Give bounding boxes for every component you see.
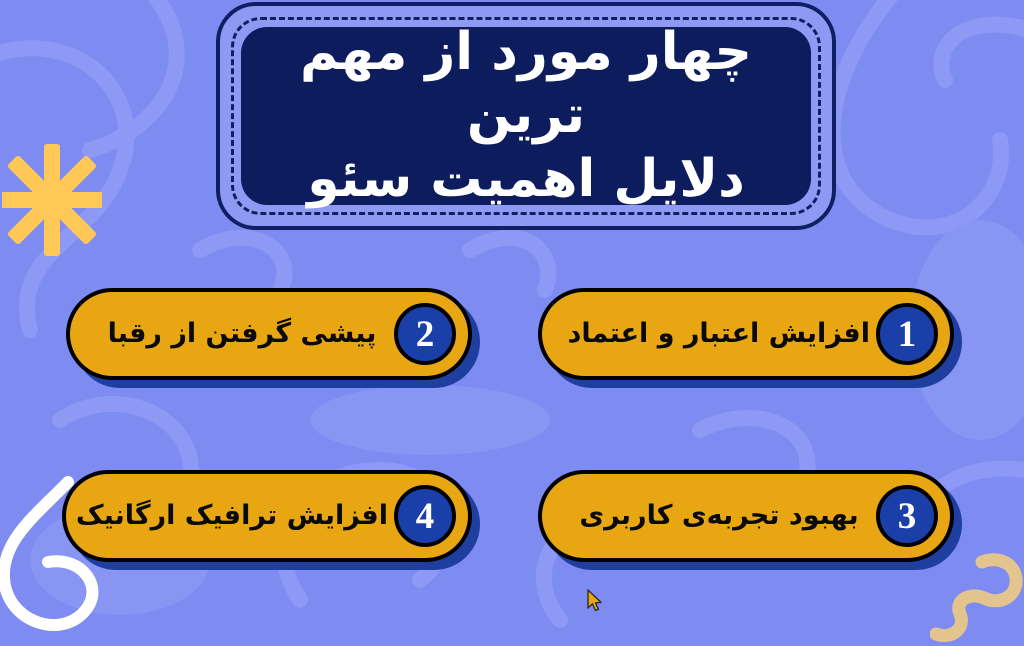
reason-pill-1[interactable]: 1 افزایش اعتبار و اعتماد bbox=[538, 288, 954, 380]
mouse-cursor-icon bbox=[586, 589, 604, 613]
reason-pill-3[interactable]: 3 بهبود تجربه‌ی کاربری bbox=[538, 470, 954, 562]
reason-number-badge-3: 3 bbox=[876, 485, 938, 547]
star-burst-icon bbox=[2, 140, 102, 260]
title-inner-panel: چهار مورد از مهم ترین دلایل اهمیت سئو bbox=[241, 27, 811, 205]
reason-label-1: افزایش اعتبار و اعتماد bbox=[561, 318, 876, 349]
wave-squiggle-icon bbox=[930, 548, 1024, 646]
reason-pill-2[interactable]: 2 پیشی گرفتن از رقبا bbox=[66, 288, 472, 380]
page-title: چهار مورد از مهم ترین دلایل اهمیت سئو bbox=[267, 21, 785, 211]
slide-canvas: چهار مورد از مهم ترین دلایل اهمیت سئو 1 … bbox=[0, 0, 1024, 646]
reason-pill-4[interactable]: 4 افزایش ترافیک ارگانیک bbox=[62, 470, 472, 562]
reason-number-badge-2: 2 bbox=[394, 303, 456, 365]
reason-label-2: پیشی گرفتن از رقبا bbox=[90, 318, 394, 349]
title-plaque: چهار مورد از مهم ترین دلایل اهمیت سئو bbox=[216, 2, 836, 230]
reason-number-badge-4: 4 bbox=[394, 485, 456, 547]
reason-label-3: بهبود تجربه‌ی کاربری bbox=[562, 500, 876, 531]
reason-number-badge-1: 1 bbox=[876, 303, 938, 365]
reason-label-4: افزایش ترافیک ارگانیک bbox=[70, 500, 394, 531]
